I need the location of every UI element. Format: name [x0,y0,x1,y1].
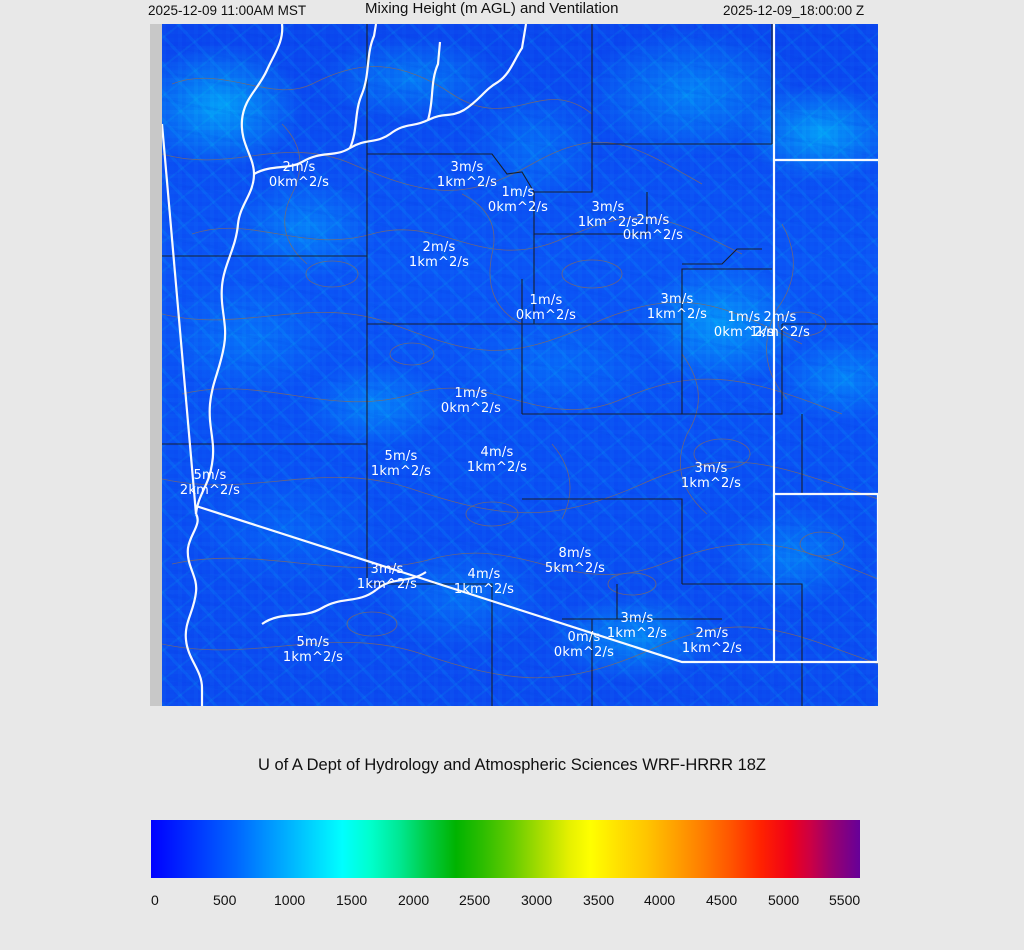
model-source-caption: U of A Dept of Hydrology and Atmospheric… [0,756,1024,775]
wind-speed-value: 3m/s [647,292,707,307]
map-station-label: 0m/s0km^2/s [554,630,614,660]
map-station-label: 4m/s1km^2/s [454,567,514,597]
colorbar-gradient [151,820,860,878]
wind-speed-value: 2m/s [409,240,469,255]
map-station-label: 8m/s5km^2/s [545,546,605,576]
wind-speed-value: 2m/s [269,160,329,175]
map-station-label: 2m/s1km^2/s [750,310,810,340]
wind-speed-value: 4m/s [454,567,514,582]
ventilation-value: 0km^2/s [516,308,576,323]
ventilation-value: 1km^2/s [682,641,742,656]
ventilation-value: 5km^2/s [545,561,605,576]
map-vector-overlay [162,24,878,706]
ventilation-value: 1km^2/s [371,464,431,479]
colorbar-tick: 5000 [768,892,799,908]
local-time-label: 2025-12-09 11:00AM MST [148,0,306,22]
colorbar-tick: 4000 [644,892,675,908]
mixing-height-raster [162,24,878,706]
county-boundaries [162,24,878,706]
ventilation-value: 1km^2/s [681,476,741,491]
map-station-label: 3m/s1km^2/s [357,562,417,592]
map-station-label: 2m/s0km^2/s [623,213,683,243]
ventilation-value: 0km^2/s [623,228,683,243]
wind-speed-value: 8m/s [545,546,605,561]
wind-speed-value: 5m/s [180,468,240,483]
ventilation-value: 1km^2/s [750,325,810,340]
state-border-and-rivers [162,24,878,706]
wind-speed-value: 1m/s [516,293,576,308]
ventilation-value: 0km^2/s [269,175,329,190]
ventilation-value: 1km^2/s [283,650,343,665]
colorbar-tick: 3000 [521,892,552,908]
map-station-label: 1m/s0km^2/s [516,293,576,323]
wind-speed-value: 2m/s [682,626,742,641]
ventilation-value: 1km^2/s [647,307,707,322]
map-station-label: 3m/s1km^2/s [607,611,667,641]
colorbar-tick: 0 [151,892,159,908]
colorbar-tick: 500 [213,892,236,908]
wind-speed-value: 3m/s [607,611,667,626]
map-station-label: 5m/s2km^2/s [180,468,240,498]
page-title: Mixing Height (m AGL) and Ventilation [365,0,618,20]
weather-map-panel[interactable]: 2m/s0km^2/s3m/s1km^2/s1m/s0km^2/s3m/s1km… [150,24,878,706]
ventilation-value: 0km^2/s [441,401,501,416]
colorbar[interactable] [151,820,860,878]
colorbar-tick: 4500 [706,892,737,908]
colorbar-tick: 5500 [829,892,860,908]
wind-speed-value: 0m/s [554,630,614,645]
wind-speed-value: 5m/s [371,449,431,464]
ventilation-value: 1km^2/s [467,460,527,475]
wind-speed-value: 2m/s [623,213,683,228]
map-station-label: 4m/s1km^2/s [467,445,527,475]
ventilation-value: 0km^2/s [488,200,548,215]
map-station-label: 2m/s0km^2/s [269,160,329,190]
map-station-label: 1m/s0km^2/s [488,185,548,215]
map-station-label: 5m/s1km^2/s [283,635,343,665]
map-station-label: 5m/s1km^2/s [371,449,431,479]
wind-speed-value: 1m/s [441,386,501,401]
colorbar-tick: 1000 [274,892,305,908]
map-station-label: 1m/s0km^2/s [441,386,501,416]
ventilation-value: 0km^2/s [554,645,614,660]
wind-speed-value: 1m/s [488,185,548,200]
map-station-label: 3m/s1km^2/s [681,461,741,491]
terrain-contours [162,67,878,678]
map-station-label: 2m/s1km^2/s [409,240,469,270]
ventilation-value: 1km^2/s [454,582,514,597]
header-bar: 2025-12-09 11:00AM MST Mixing Height (m … [0,0,1024,22]
colorbar-tick-labels: 0500100015002000250030003500400045005000… [151,892,911,916]
map-station-label: 3m/s1km^2/s [647,292,707,322]
ventilation-value: 1km^2/s [409,255,469,270]
colorbar-tick: 1500 [336,892,367,908]
ventilation-value: 1km^2/s [607,626,667,641]
colorbar-tick: 2000 [398,892,429,908]
ventilation-value: 2km^2/s [180,483,240,498]
wind-speed-value: 3m/s [357,562,417,577]
wind-speed-value: 2m/s [750,310,810,325]
wind-speed-value: 5m/s [283,635,343,650]
wind-speed-value: 3m/s [681,461,741,476]
wind-speed-value: 3m/s [437,160,497,175]
map-station-label: 2m/s1km^2/s [682,626,742,656]
colorbar-tick: 3500 [583,892,614,908]
wind-speed-value: 4m/s [467,445,527,460]
valid-time-label: 2025-12-09_18:00:00 Z [723,0,864,22]
colorbar-tick: 2500 [459,892,490,908]
ventilation-value: 1km^2/s [357,577,417,592]
